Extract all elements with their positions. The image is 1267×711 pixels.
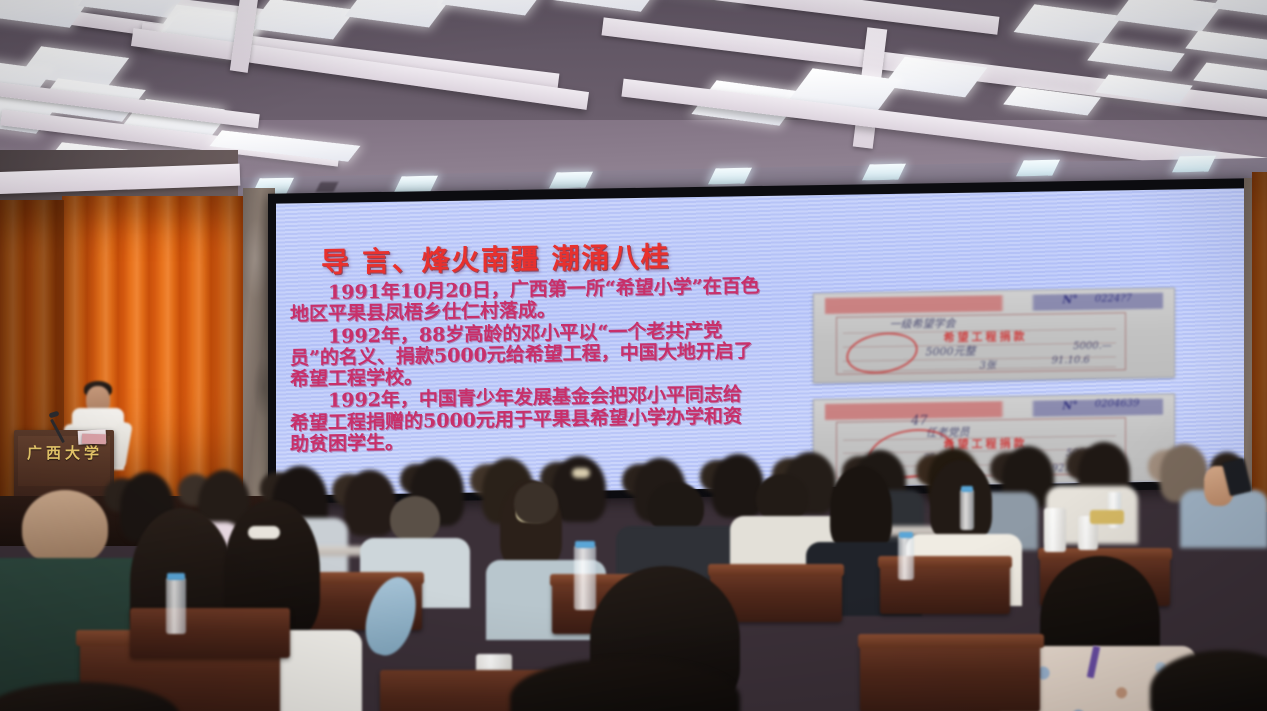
water-bottle: [960, 490, 974, 530]
thermos-cup: [1044, 508, 1066, 552]
receipt-serial-label: N°: [1062, 399, 1078, 412]
theater-seat: [860, 642, 1040, 711]
receipt-handwriting: 3张: [980, 356, 996, 371]
receipt-handwriting: 91.10.6: [1052, 355, 1090, 367]
water-bottle: [898, 536, 914, 580]
theater-seat: [130, 608, 290, 658]
donation-receipt-top: 一级希望学会 希望工程捐款 5000元整 5000.— 3张 91.10.6 0…: [813, 287, 1175, 383]
receipt-handwriting: 5000.—: [1073, 341, 1112, 353]
receipt-serial: 0204639: [1095, 398, 1140, 410]
receipt-handwriting: 5000元整: [926, 343, 976, 360]
hair-clip: [1090, 510, 1124, 524]
audience-head: [22, 490, 108, 566]
receipt-serial: 0224?7: [1095, 293, 1132, 305]
slide-paragraph-2: 1992年，88岁高龄的邓小平以“一个老共产党员”的名义、捐款5000元给希望工…: [290, 320, 760, 391]
slide-paragraph-1: 1991年10月20日，广西第一所“希望小学”在百色地区平果县凤梧乡仕仁村落成。: [290, 276, 760, 326]
receipt-serial-label: N°: [1062, 293, 1078, 306]
hair-clip: [248, 526, 280, 539]
slide-title: 导 言、烽火南疆 潮涌八桂: [321, 235, 670, 280]
water-bottle: [166, 578, 186, 634]
audience-area: [0, 430, 1267, 711]
water-bottle: [574, 546, 596, 610]
lecture-hall-photo: 导 言、烽火南疆 潮涌八桂 1991年10月20日，广西第一所“希望小学”在百色…: [0, 0, 1267, 711]
